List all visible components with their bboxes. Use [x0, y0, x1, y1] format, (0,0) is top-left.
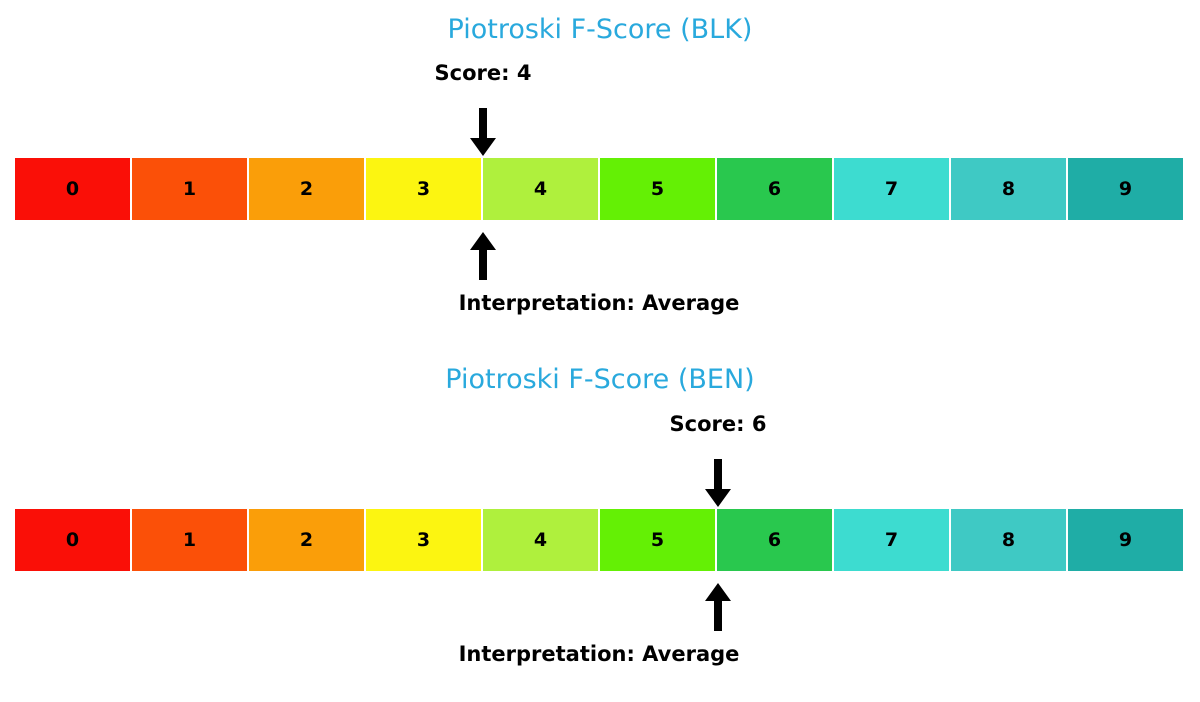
scale-cell-label: 7: [885, 531, 898, 550]
scale-cell-3[interactable]: 3: [366, 509, 481, 571]
scale-cell-8[interactable]: 8: [951, 158, 1066, 220]
scale-cell-3[interactable]: 3: [366, 158, 481, 220]
fscore-scale-bar-blk: 0 1 2 3 4 5 6 7 8 9: [15, 158, 1183, 220]
scale-cell-5[interactable]: 5: [600, 158, 715, 220]
scale-cell-2[interactable]: 2: [249, 158, 364, 220]
scale-cell-label: 2: [300, 531, 313, 550]
scale-cell-4[interactable]: 4: [483, 158, 598, 220]
scale-cell-1[interactable]: 1: [132, 509, 247, 571]
scale-cell-0[interactable]: 0: [15, 158, 130, 220]
scale-cell-1[interactable]: 1: [132, 158, 247, 220]
scale-cell-label: 5: [651, 180, 664, 199]
score-label-ben: Score: 6: [670, 412, 767, 436]
scale-cell-label: 7: [885, 180, 898, 199]
gauge-panel-blk: Piotroski F-Score (BLK) Score: 4 0 1 2 3…: [0, 0, 1200, 340]
scale-cell-label: 9: [1119, 180, 1132, 199]
scale-cell-8[interactable]: 8: [951, 509, 1066, 571]
scale-cell-label: 5: [651, 531, 664, 550]
piotroski-fscore-figure: { "chart_data": [ { "type": "bar", "titl…: [0, 0, 1200, 702]
interpretation-label-ben: Interpretation: Average: [459, 642, 740, 666]
score-pointer-down-arrow-blk: [463, 108, 503, 156]
interpretation-pointer-up-arrow-blk: [463, 232, 503, 280]
scale-cell-0[interactable]: 0: [15, 509, 130, 571]
scale-cell-4[interactable]: 4: [483, 509, 598, 571]
page-title-ben: Piotroski F-Score (BEN): [0, 364, 1200, 395]
gauge-panel-ben: Piotroski F-Score (BEN) Score: 6 0 1 2 3…: [0, 350, 1200, 702]
score-pointer-down-arrow-ben: [698, 459, 738, 507]
scale-cell-label: 6: [768, 180, 781, 199]
score-label-blk: Score: 4: [435, 61, 532, 85]
scale-cell-label: 1: [183, 531, 196, 550]
scale-cell-label: 1: [183, 180, 196, 199]
page-title-blk: Piotroski F-Score (BLK): [0, 14, 1200, 45]
interpretation-label-blk: Interpretation: Average: [459, 291, 740, 315]
scale-cell-label: 0: [66, 531, 79, 550]
scale-cell-6[interactable]: 6: [717, 509, 832, 571]
scale-cell-label: 8: [1002, 531, 1015, 550]
scale-cell-label: 2: [300, 180, 313, 199]
scale-cell-label: 9: [1119, 531, 1132, 550]
scale-cell-label: 3: [417, 531, 430, 550]
fscore-scale-bar-ben: 0 1 2 3 4 5 6 7 8 9: [15, 509, 1183, 571]
scale-cell-2[interactable]: 2: [249, 509, 364, 571]
scale-cell-6[interactable]: 6: [717, 158, 832, 220]
scale-cell-label: 6: [768, 531, 781, 550]
scale-cell-7[interactable]: 7: [834, 158, 949, 220]
scale-cell-label: 4: [534, 180, 547, 199]
scale-cell-label: 8: [1002, 180, 1015, 199]
interpretation-pointer-up-arrow-ben: [698, 583, 738, 631]
scale-cell-label: 0: [66, 180, 79, 199]
scale-cell-label: 4: [534, 531, 547, 550]
scale-cell-5[interactable]: 5: [600, 509, 715, 571]
scale-cell-9[interactable]: 9: [1068, 158, 1183, 220]
scale-cell-label: 3: [417, 180, 430, 199]
scale-cell-7[interactable]: 7: [834, 509, 949, 571]
scale-cell-9[interactable]: 9: [1068, 509, 1183, 571]
